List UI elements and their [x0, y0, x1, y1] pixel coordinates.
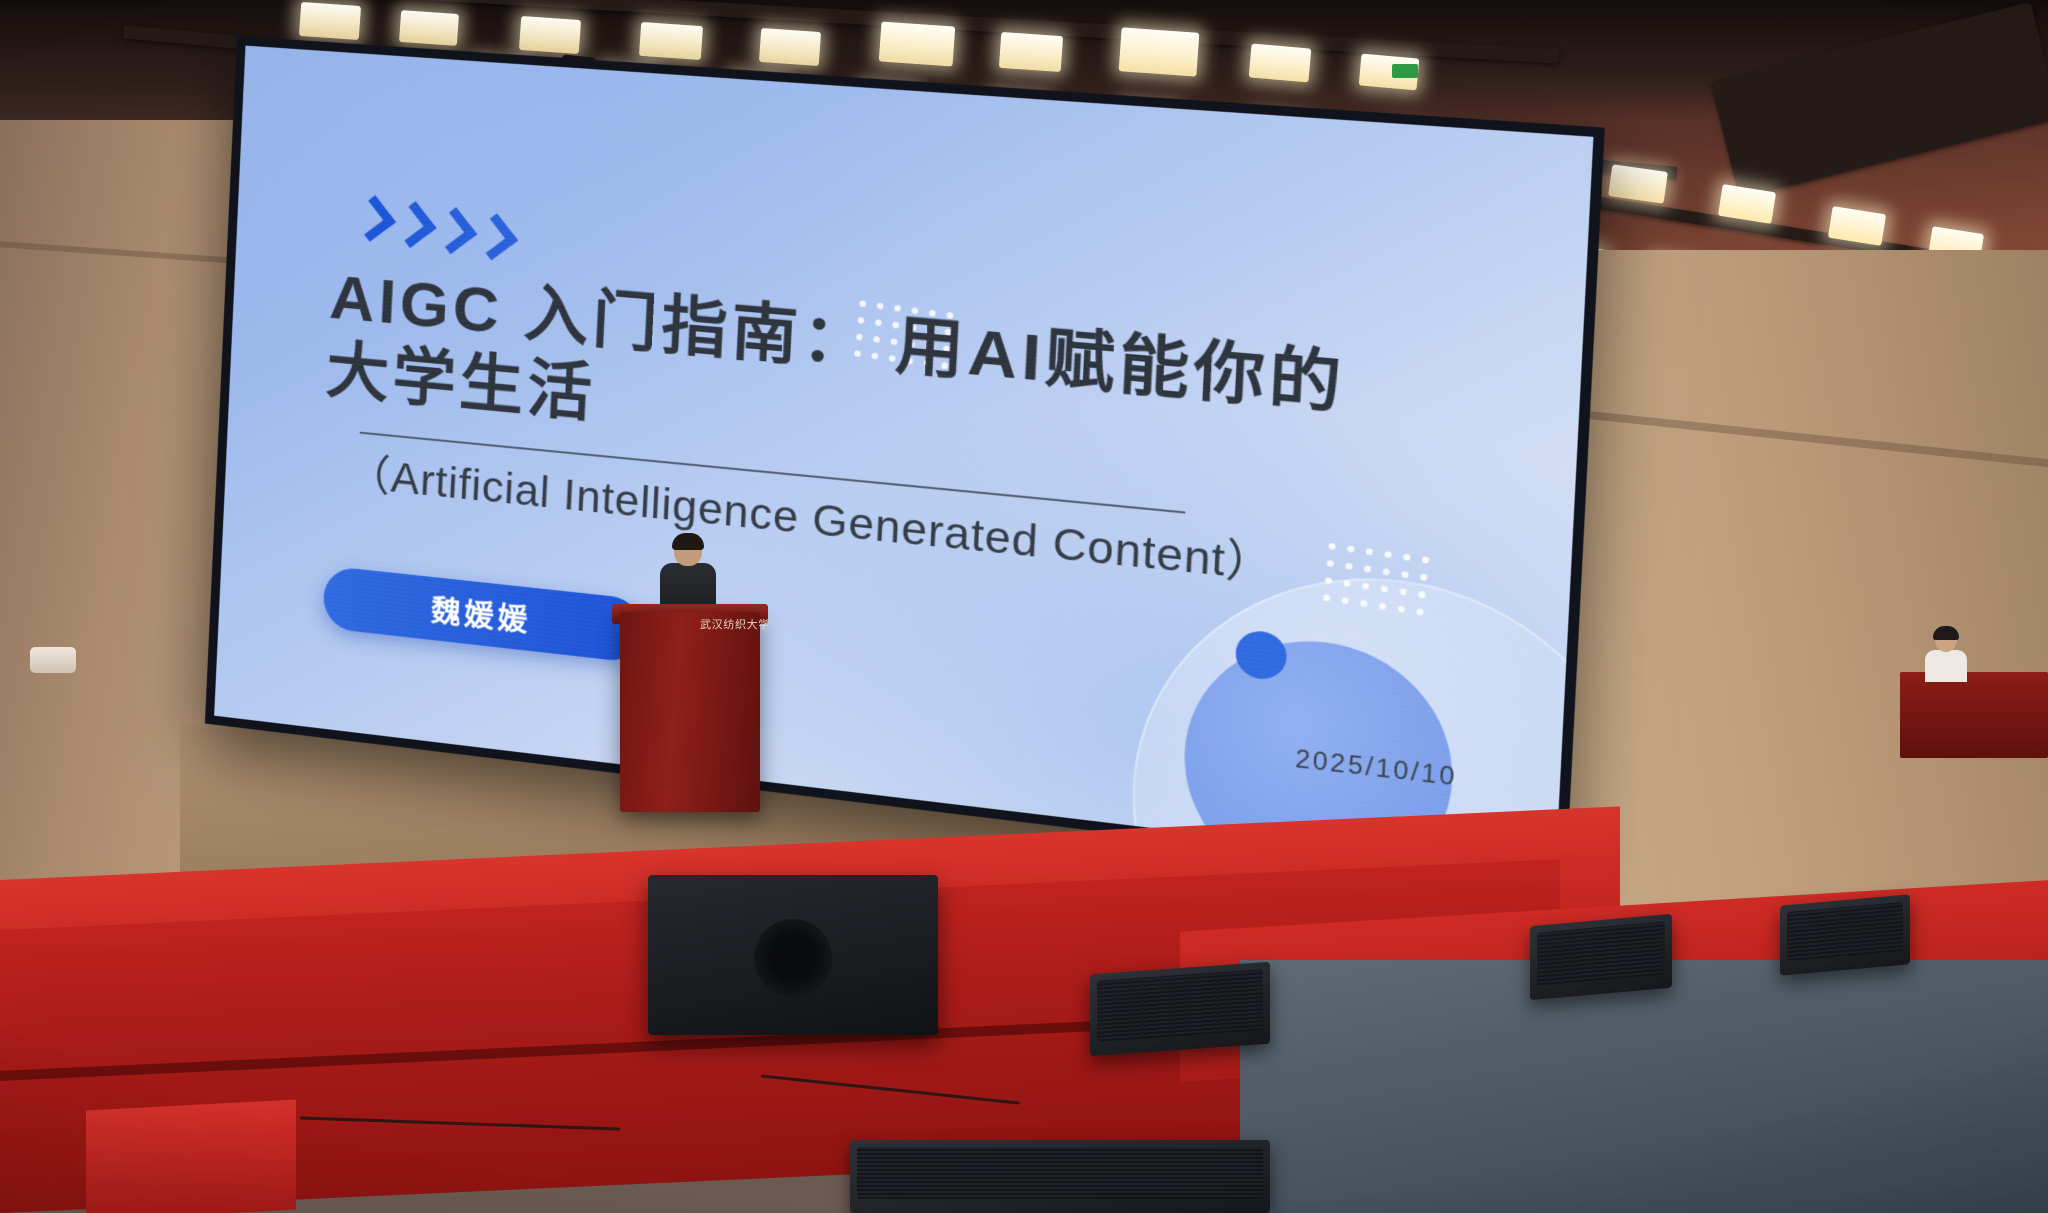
- stage-step: [86, 1099, 296, 1213]
- exit-sign-icon: [1392, 64, 1418, 78]
- front-subwoofer: [850, 1140, 1270, 1213]
- seated-attendee: [1925, 628, 1967, 680]
- podium: [620, 612, 760, 812]
- stage-lamp: [1119, 27, 1200, 76]
- audience-floor: [1240, 960, 2048, 1213]
- stage-lamp: [759, 28, 821, 66]
- podium-logo-text: 武汉纺织大学: [700, 616, 770, 632]
- stage-monitor-speaker: [1530, 914, 1672, 1000]
- stage-lamp: [519, 16, 581, 54]
- side-desk: [1900, 672, 2048, 758]
- auditorium-photo: AIGC 入门指南： 用AI赋能你的 大学生活 （Artificial Inte…: [0, 0, 2048, 1213]
- stage-monitor-speaker: [1780, 894, 1910, 975]
- stage-lamp: [299, 2, 361, 40]
- stage-lamp: [639, 22, 703, 60]
- wall-mounted-speaker: [30, 647, 76, 673]
- stage-lamp: [399, 10, 459, 46]
- stage-lamp: [879, 21, 956, 66]
- stage-monitor-speaker: [1090, 962, 1270, 1057]
- stage-lamp: [999, 32, 1063, 72]
- stage-lamp: [1249, 43, 1312, 82]
- subwoofer-speaker: [648, 875, 938, 1035]
